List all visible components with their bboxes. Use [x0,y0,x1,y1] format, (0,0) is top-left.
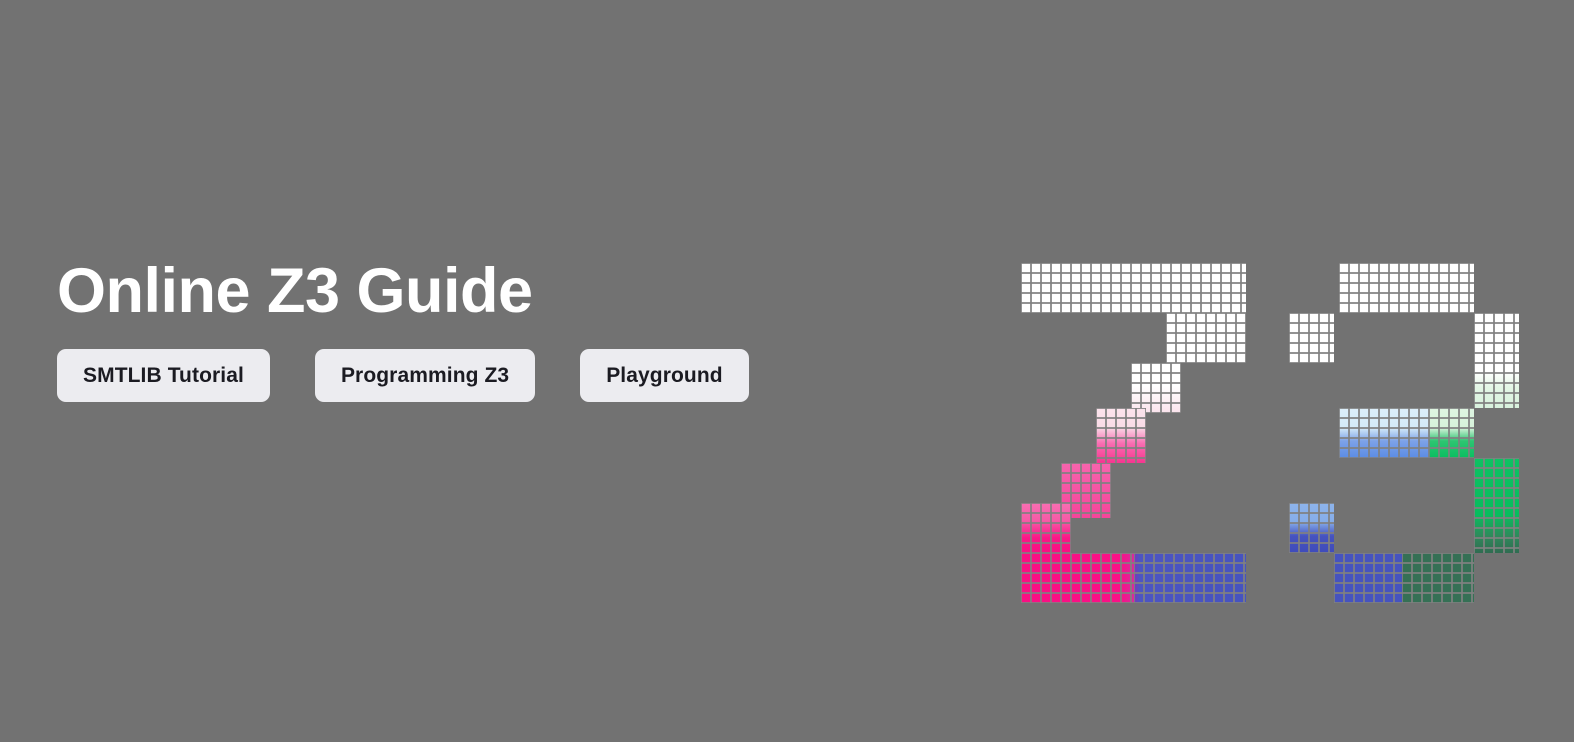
playground-button[interactable]: Playground [580,349,749,402]
logo-z-bottom-bar-pink [1021,553,1134,603]
logo-3-lower-right-stroke [1474,458,1519,553]
z3-pixel-logo [1021,263,1521,583]
smtlib-tutorial-button[interactable]: SMTLIB Tutorial [57,349,270,402]
hero-text-column: Online Z3 Guide SMTLIB Tutorial Programm… [57,258,957,402]
logo-z-step-5 [1021,503,1071,553]
hero-section: Online Z3 Guide SMTLIB Tutorial Programm… [0,0,1574,742]
logo-3-middle-bar-green [1429,408,1474,458]
logo-3-top-left-nub [1289,313,1334,363]
logo-3-bottom-bar-green [1402,553,1474,603]
logo-z-step-1 [1166,313,1246,363]
logo-3-upper-right-stroke [1474,313,1519,408]
logo-3-middle-bar-blue [1339,408,1429,458]
programming-z3-button[interactable]: Programming Z3 [315,349,535,402]
logo-3-top-bar [1339,263,1474,313]
logo-z-top-bar [1021,263,1246,313]
logo-z-bottom-bar-blue [1134,553,1246,603]
logo-z-step-3 [1096,408,1146,463]
logo-z-step-2 [1131,363,1181,413]
logo-3-bottom-left-nub [1289,503,1334,553]
logo-3-bottom-bar-blue [1334,553,1402,603]
page-title: Online Z3 Guide [57,258,957,324]
hero-button-group: SMTLIB Tutorial Programming Z3 Playgroun… [57,349,957,402]
